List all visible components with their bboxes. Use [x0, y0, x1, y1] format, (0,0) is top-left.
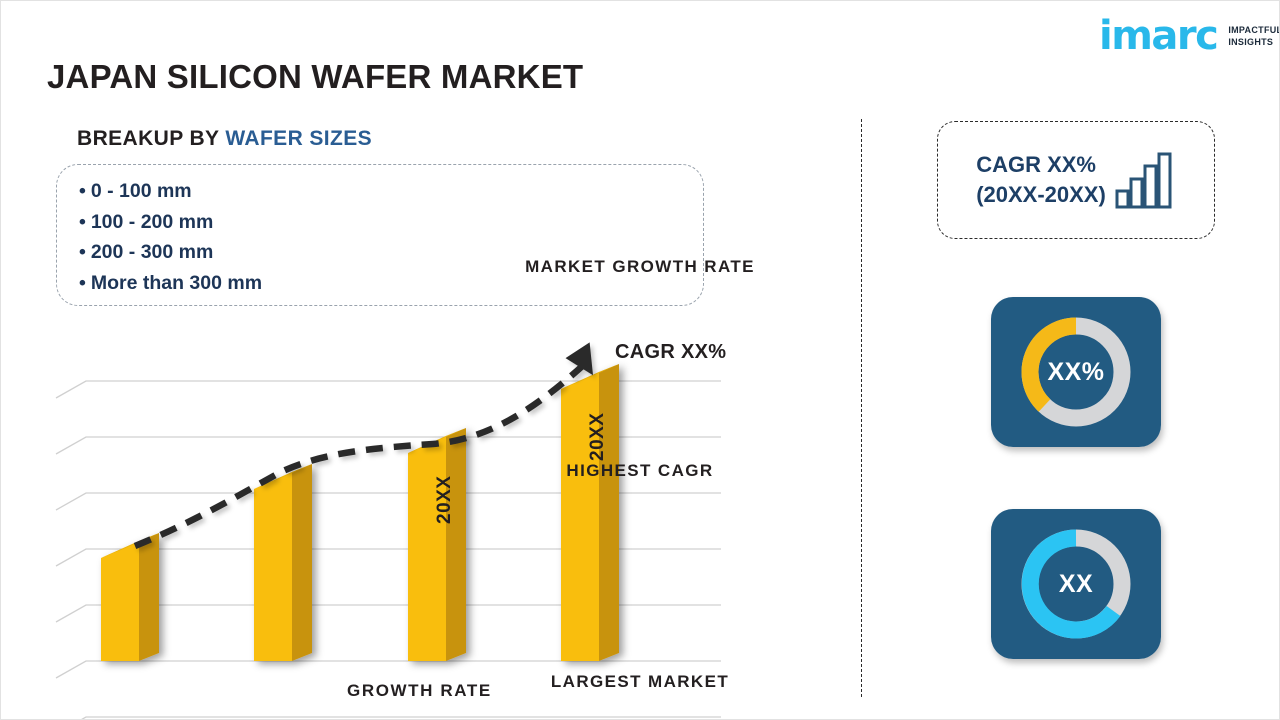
growth-rate-bar-chart: 20XX 20XX: [41, 326, 801, 720]
list-item: •100 - 200 mm: [79, 207, 703, 238]
cagr-card-line2: (20XX-20XX): [976, 180, 1106, 210]
bar-1: [101, 533, 159, 661]
logo-tagline: IMPACTFUL INSIGHTS: [1228, 24, 1280, 48]
subtitle-prefix: BREAKUP BY: [77, 127, 225, 150]
caption-market-growth-rate: MARKET GROWTH RATE: [1, 257, 1279, 277]
caption-largest-market: LARGEST MARKET: [1, 672, 1279, 692]
cagr-card-text: CAGR XX% (20XX-20XX): [976, 150, 1106, 210]
panel-divider: [861, 119, 862, 697]
highest-cagr-value: XX%: [991, 297, 1161, 447]
page-title: JAPAN SILICON WAFER MARKET: [47, 58, 583, 96]
bullet-icon: •: [79, 211, 86, 233]
largest-market-tile: XX: [991, 509, 1161, 659]
list-item-label: 0 - 100 mm: [91, 180, 192, 202]
list-item: •0 - 100 mm: [79, 176, 703, 207]
list-item-label: 100 - 200 mm: [91, 211, 214, 233]
wafer-sizes-list: •0 - 100 mm •100 - 200 mm •200 - 300 mm …: [56, 164, 704, 306]
bullet-icon: •: [79, 180, 86, 202]
market-growth-rate-card: CAGR XX% (20XX-20XX): [937, 121, 1215, 239]
slide-canvas: imarc IMPACTFUL INSIGHTS JAPAN SILICON W…: [0, 0, 1280, 720]
logo-tagline-line1: IMPACTFUL: [1228, 24, 1280, 36]
bar-chart-icon: [1114, 149, 1176, 211]
trend-line: [135, 336, 604, 546]
cagr-card-line1: CAGR XX%: [976, 150, 1106, 180]
bar-label-3: 20XX: [434, 476, 456, 524]
logo-tagline-line2: INSIGHTS: [1228, 36, 1280, 48]
chart-svg: [41, 326, 801, 720]
breakup-subtitle: BREAKUP BY WAFER SIZES: [77, 127, 372, 151]
subtitle-highlight: WAFER SIZES: [225, 127, 372, 150]
imarc-logo: imarc IMPACTFUL INSIGHTS: [1099, 15, 1269, 57]
highest-cagr-tile: XX%: [991, 297, 1161, 447]
bar-2: [254, 464, 312, 661]
chart-cagr-label: CAGR XX%: [615, 341, 726, 364]
logo-wordmark: imarc: [1099, 16, 1217, 56]
caption-highest-cagr: HIGHEST CAGR: [1, 461, 1279, 481]
bar-label-4: 20XX: [587, 413, 609, 461]
bar-4: [561, 364, 619, 661]
largest-market-value: XX: [991, 509, 1161, 659]
